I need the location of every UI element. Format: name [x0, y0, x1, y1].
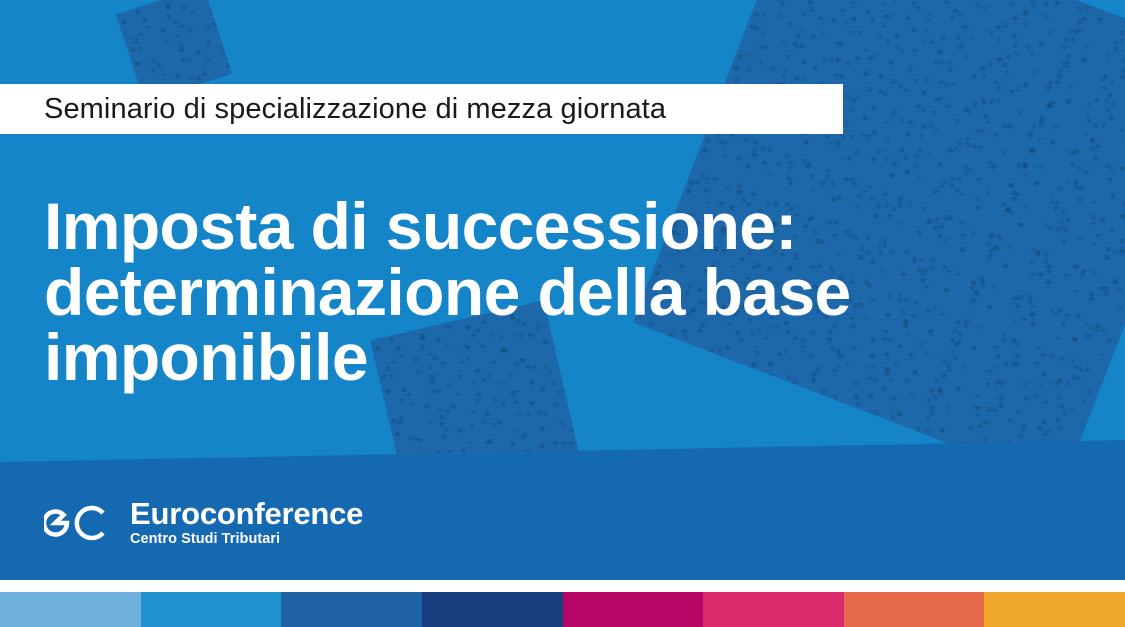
title-line-2: determinazione della base — [44, 260, 994, 325]
brand-color-bar — [0, 592, 1125, 627]
color-bar-segment-amber — [984, 592, 1125, 627]
color-bar-segment-navy-blue — [422, 592, 563, 627]
color-bar-segment-pink — [703, 592, 844, 627]
color-bar-segment-magenta — [563, 592, 704, 627]
subtitle-text: Seminario di specializzazione di mezza g… — [44, 95, 666, 124]
page-title: Imposta di successione: determinazione d… — [44, 194, 994, 390]
logo-tagline: Centro Studi Tributari — [130, 532, 363, 548]
promo-banner-canvas: Seminario di specializzazione di mezza g… — [0, 0, 1125, 627]
euroconference-logo: Euroconference Centro Studi Tributari — [44, 494, 363, 552]
logo-wordmark: Euroconference Centro Studi Tributari — [130, 498, 363, 548]
white-divider-strip — [0, 580, 1125, 592]
color-bar-segment-sky-blue — [141, 592, 282, 627]
color-bar-segment-light-blue — [0, 592, 141, 627]
logo-name: Euroconference — [130, 498, 363, 530]
title-line-3: imponibile — [44, 325, 994, 390]
subtitle-banner: Seminario di specializzazione di mezza g… — [0, 84, 843, 134]
title-line-1: Imposta di successione: — [44, 194, 994, 259]
color-bar-segment-medium-blue — [281, 592, 422, 627]
color-bar-segment-orange — [844, 592, 985, 627]
ec-monogram-icon — [44, 500, 116, 546]
